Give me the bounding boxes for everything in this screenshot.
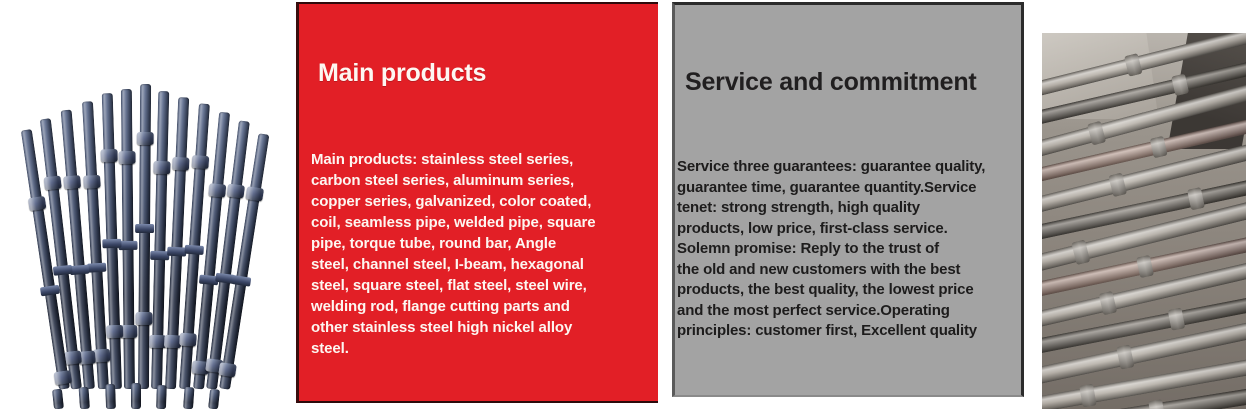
left-product-photo — [0, 0, 296, 409]
steel-props-photo — [38, 44, 258, 389]
main-products-heading: Main products — [318, 59, 486, 88]
page-canvas: Main products Main products: stainless s… — [0, 0, 1246, 409]
service-commitment-heading: Service and commitment — [685, 68, 977, 97]
right-product-photo — [1042, 33, 1246, 409]
main-products-body: Main products: stainless steel series, c… — [311, 149, 651, 359]
main-products-panel: Main products Main products: stainless s… — [296, 2, 658, 403]
service-commitment-body: Service three guarantees: guarantee qual… — [677, 157, 1021, 342]
service-commitment-panel: Service and commitment Service three gua… — [672, 2, 1024, 397]
